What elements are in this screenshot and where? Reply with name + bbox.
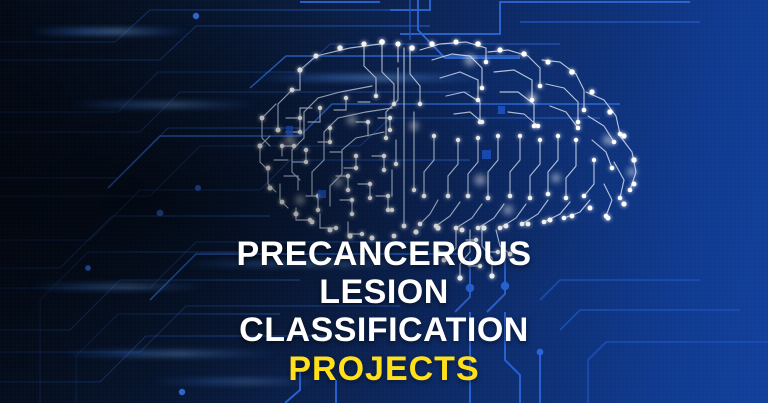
title-accent-line: PROJECTS [0, 349, 768, 389]
banner-hero: PRECANCEROUS LESION CLASSIFICATION PROJE… [0, 0, 768, 403]
title-line-2: LESION [0, 273, 768, 311]
title-block: PRECANCEROUS LESION CLASSIFICATION PROJE… [0, 235, 768, 389]
title-line-3: CLASSIFICATION [0, 311, 768, 349]
title-line-1: PRECANCEROUS [0, 235, 768, 273]
